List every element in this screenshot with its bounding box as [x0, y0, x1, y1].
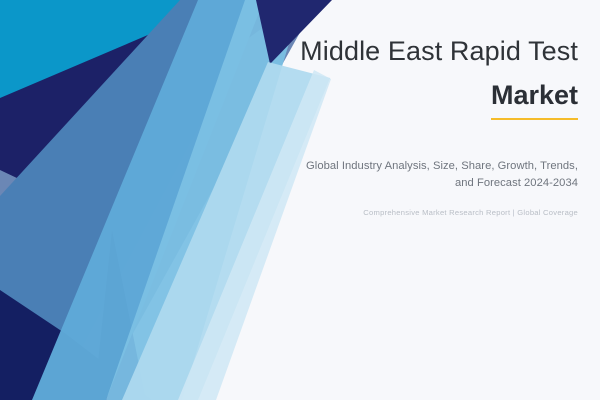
- report-cover: Middle East Rapid Test Market Global Ind…: [0, 0, 600, 400]
- page-title-secondary-wrap: Market: [286, 80, 578, 120]
- cover-text-block: Middle East Rapid Test Market Global Ind…: [286, 36, 578, 217]
- cover-caption: Comprehensive Market Research Report | G…: [286, 208, 578, 217]
- page-title-secondary: Market: [491, 80, 578, 120]
- cover-subtitle: Global Industry Analysis, Size, Share, G…: [286, 158, 578, 192]
- page-title-primary: Middle East Rapid Test: [286, 36, 578, 67]
